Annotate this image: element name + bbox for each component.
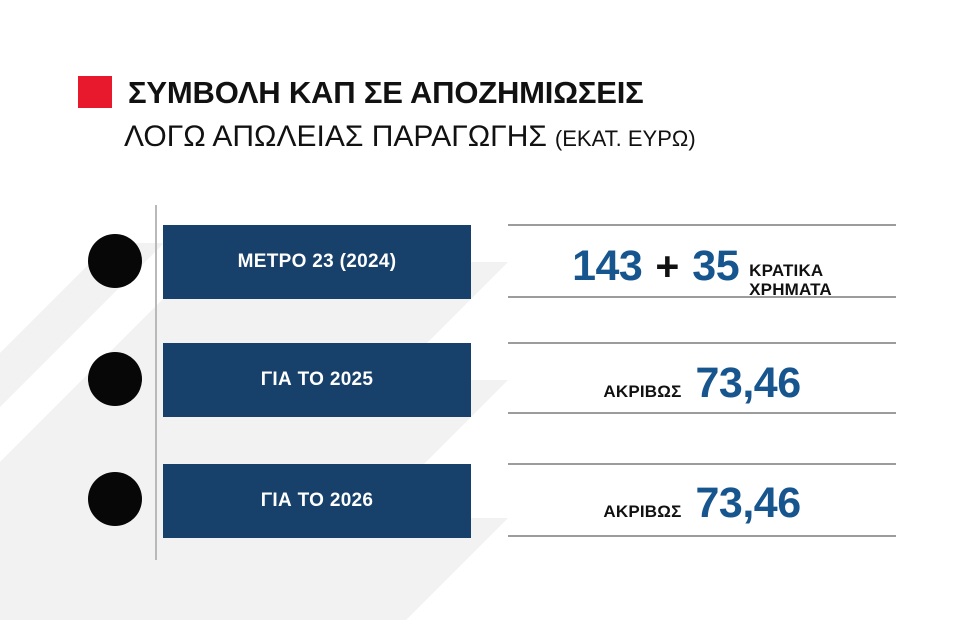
- row-label-text: ΓΙΑ ΤΟ 2026: [261, 490, 374, 512]
- row-value-secondary: 35: [692, 245, 739, 288]
- title-row: ΣΥΜΒΟΛΗ ΚΑΠ ΣΕ ΑΠΟΖΗΜΙΩΣΕΙΣ: [78, 76, 644, 108]
- page-title: ΣΥΜΒΟΛΗ ΚΑΠ ΣΕ ΑΠΟΖΗΜΙΩΣΕΙΣ: [128, 77, 644, 108]
- separator-line-6: [508, 535, 896, 537]
- row-label-box[interactable]: ΓΙΑ ΤΟ 2025: [163, 343, 471, 417]
- row-value-block: 143 + 35 ΚΡΑΤΙΚΑ ΧΡΗΜΑΤΑ: [508, 245, 896, 303]
- row-value-note: ΚΡΑΤΙΚΑ ΧΡΗΜΑΤΑ: [749, 261, 832, 299]
- row-note-line-2: ΧΡΗΜΑΤΑ: [749, 280, 832, 299]
- separator-line-3: [508, 342, 896, 344]
- infographic-canvas: ΣΥΜΒΟΛΗ ΚΑΠ ΣΕ ΑΠΟΖΗΜΙΩΣΕΙΣ ΛΟΓΩ ΑΠΩΛΕΙΑ…: [0, 0, 960, 620]
- row-label-box[interactable]: ΓΙΑ ΤΟ 2026: [163, 464, 471, 538]
- subtitle-row: ΛΟΓΩ ΑΠΩΛΕΙΑΣ ΠΑΡΑΓΩΓΗΣ (ΕΚΑΤ. ΕΥΡΩ): [124, 122, 696, 152]
- separator-line-4: [508, 412, 896, 414]
- row-value-block: ΑΚΡΙΒΩΣ 73,46: [508, 362, 896, 405]
- bullet-circle-icon: [88, 472, 142, 526]
- vertical-guide-line: [155, 205, 157, 560]
- bullet-shadow-1: [0, 243, 164, 620]
- page-subtitle: ΛΟΓΩ ΑΠΩΛΕΙΑΣ ΠΑΡΑΓΩΓΗΣ: [124, 122, 547, 152]
- plus-operator-icon: +: [655, 246, 679, 287]
- bullet-shadow-3: [0, 500, 164, 620]
- row-label-box[interactable]: ΜΕΤΡΟ 23 (2024): [163, 225, 471, 299]
- row-value-primary: 73,46: [696, 362, 801, 405]
- separator-line-5: [508, 463, 896, 465]
- bullet-circle-icon: [88, 234, 142, 288]
- row-note-line-1: ΚΡΑΤΙΚΑ: [749, 261, 832, 280]
- row-label-text: ΜΕΤΡΟ 23 (2024): [238, 251, 397, 273]
- bullet-circle-icon: [88, 352, 142, 406]
- row-value-block: ΑΚΡΙΒΩΣ 73,46: [508, 482, 896, 525]
- row-value-prefix: ΑΚΡΙΒΩΣ: [603, 502, 681, 522]
- row-value-primary: 73,46: [696, 482, 801, 525]
- row-value-primary: 143: [572, 245, 642, 288]
- red-square-icon: [78, 76, 112, 108]
- label-box-shadow-1: [0, 262, 508, 620]
- separator-line-1: [508, 224, 896, 226]
- row-label-text: ΓΙΑ ΤΟ 2025: [261, 369, 374, 391]
- unit-label: (ΕΚΑΤ. ΕΥΡΩ): [555, 128, 696, 150]
- row-value-prefix: ΑΚΡΙΒΩΣ: [603, 382, 681, 402]
